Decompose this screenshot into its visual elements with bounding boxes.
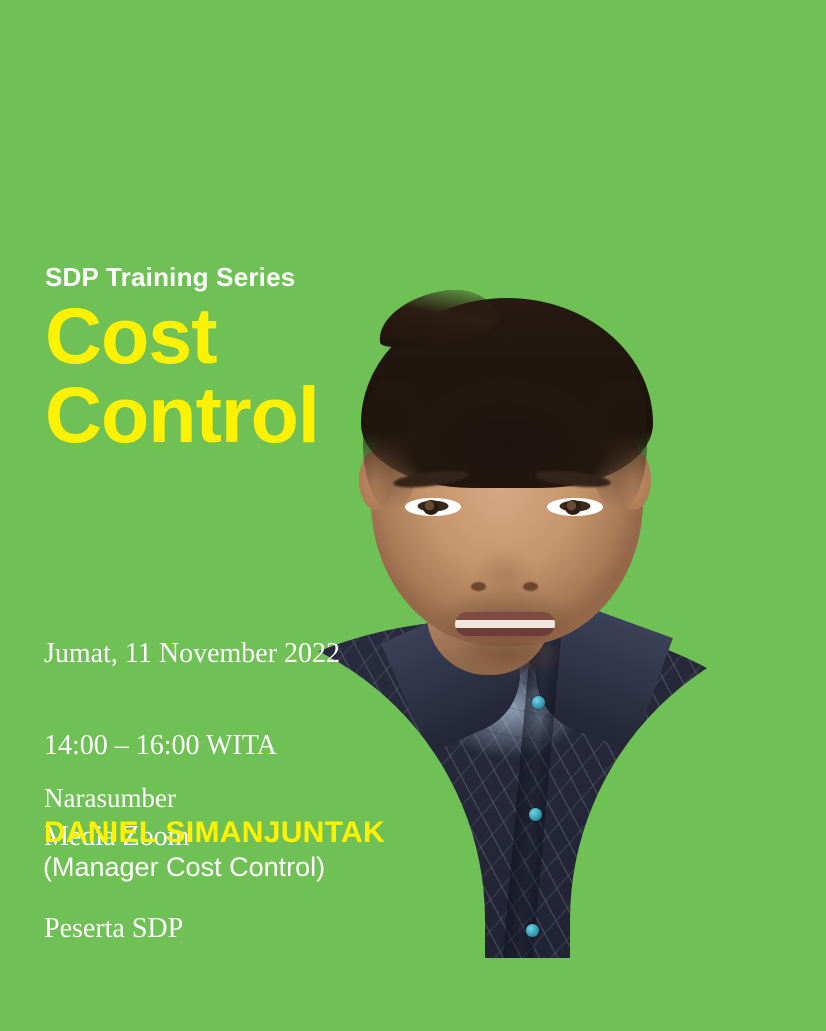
hair-side-left <box>363 380 421 510</box>
mouth <box>455 612 555 636</box>
iris-left <box>423 500 439 515</box>
chin-shadow <box>443 642 571 676</box>
speaker-role: (Manager Cost Control) <box>43 852 325 883</box>
eye-left <box>405 498 461 516</box>
shirt-button <box>529 808 542 821</box>
event-date: Jumat, 11 November 2022 <box>44 639 340 670</box>
iris-right <box>565 500 581 515</box>
title-line-1: Cost <box>45 291 217 380</box>
eye-right <box>547 498 603 516</box>
hair-side-right <box>589 380 647 510</box>
shirt-button <box>526 924 539 937</box>
event-time: 14:00 – 16:00 WITA <box>44 731 340 762</box>
title-line-2: Control <box>45 375 319 454</box>
poster-canvas: SDP Training Series CostControl Jumat, 1… <box>0 0 826 1031</box>
page-title: CostControl <box>45 296 319 454</box>
speaker-name: DANIEL SIMANJUNTAK <box>44 816 385 850</box>
speaker-label: Narasumber <box>44 783 176 814</box>
series-eyebrow: SDP Training Series <box>45 262 295 293</box>
event-audience: Peserta SDP <box>44 914 340 945</box>
